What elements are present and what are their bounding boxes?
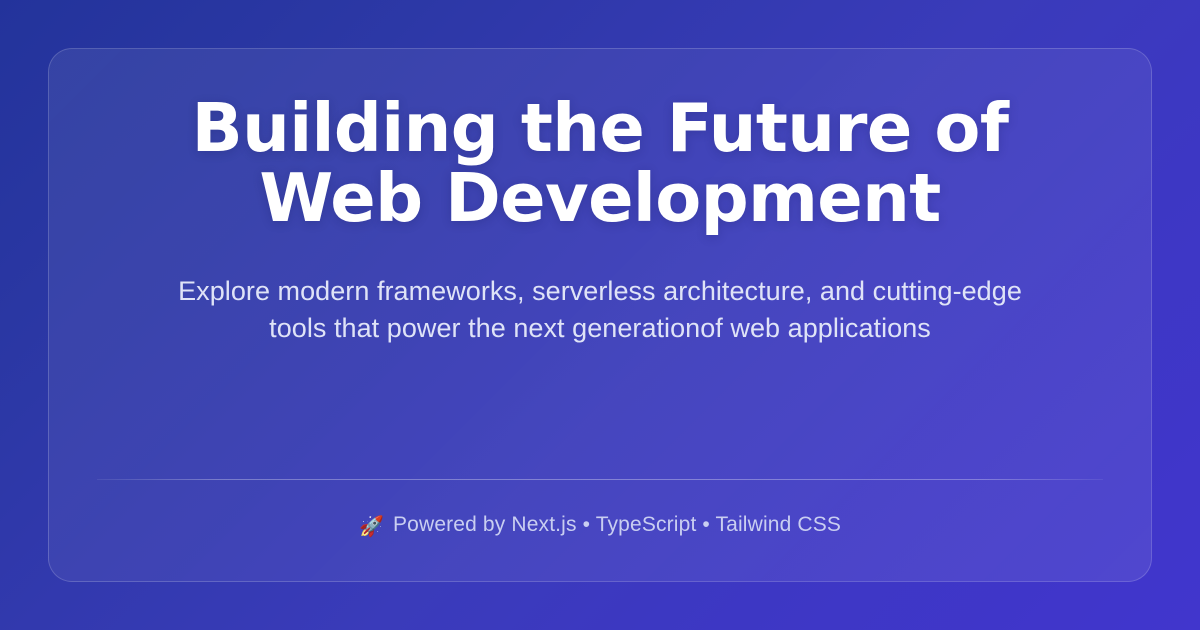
footer-divider xyxy=(97,479,1103,480)
og-card: Building the Future of Web Development E… xyxy=(48,48,1152,582)
footer-credits-label: Powered by Next.js • TypeScript • Tailwi… xyxy=(393,514,841,535)
page-subtitle: Explore modern frameworks, serverless ar… xyxy=(165,273,1035,348)
og-canvas: Building the Future of Web Development E… xyxy=(0,0,1200,630)
rocket-icon: 🚀 xyxy=(359,516,384,536)
page-title: Building the Future of Web Development xyxy=(160,93,1040,233)
footer-credits: 🚀 Powered by Next.js • TypeScript • Tail… xyxy=(359,514,841,535)
